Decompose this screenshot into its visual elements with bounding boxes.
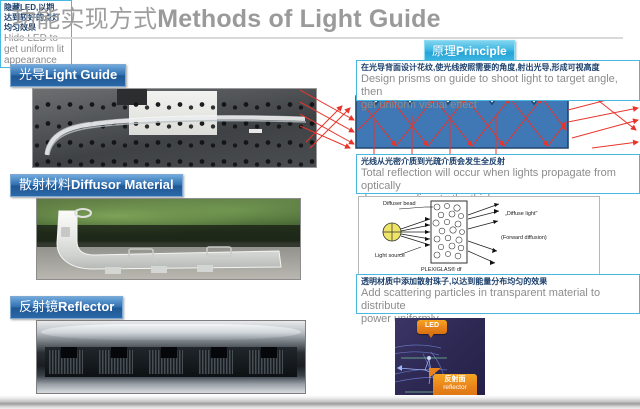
diffuse-light-label: „Diffuse light" [505,211,537,217]
led-strip [45,347,297,377]
principle-text-prism: 在光导背面设计花纹,使光线按照需要的角度,射出光导,形成可视高度 Design … [356,60,640,101]
callout-reflector-tail [429,368,441,378]
led-emitter [161,347,177,358]
slide-title-bar: 功能实现方式Methods of Light Guide [0,0,640,40]
section-label-diffusor-material[interactable]: 散射材料Diffusor Material [10,174,183,197]
section-label-reflector[interactable]: 反射镜Reflector [10,296,123,319]
section-label-diffusor-material-en: Diffusor Material [71,177,174,192]
plexiglas-label: PLEXIGLAS® df [421,267,461,273]
principle-prism-en-line2: get uniform visual effect [361,99,636,112]
callout-led-tail [427,332,435,338]
principle-scatter-cjk: 透明材质中添加散射珠子,以达到能量分布均匀的效果 [361,277,636,287]
principle-prism-en-line1: Design prisms on guide to shoot light to… [361,73,636,99]
section-label-light-guide-cjk: 光导 [19,67,45,82]
led-emitter [211,347,227,358]
page-title-en: Methods of Light Guide [157,5,441,33]
principle-scatter-en-line1: Add scattering particles in transparent … [361,287,636,313]
light-guide-rod [43,113,311,157]
principle-text-total-reflection: 光线从光密介质到光疏介质会发生全反射 Total reflection will… [356,154,640,194]
badge-principle-en: Principle [456,44,507,58]
led-emitter [261,347,277,358]
diagram-led-reflector: LED 反射面 reflector [395,318,485,401]
footer-bar [0,395,640,409]
principle-total-cjk: 光线从光密介质到光疏介质会发生全反射 [361,157,636,167]
led-emitter [61,347,77,358]
section-label-reflector-en: Reflector [58,299,114,314]
photo-light-guide-rod [32,88,317,168]
title-divider [8,37,623,39]
photo-diffusor-part [36,198,301,280]
slide-canvas: 功能实现方式Methods of Light Guide 原理Principle… [0,0,640,409]
led-emitter [111,347,127,358]
diffusor-part-shape [47,207,285,275]
section-label-light-guide-en: Light Guide [45,67,117,82]
principle-total-en-line1: Total reflection will occur when lights … [361,167,636,193]
callout-reflector-en: reflector [433,384,477,392]
section-label-reflector-cjk: 反射镜 [19,299,58,314]
page-title-cjk: 功能实现方式 [12,6,157,33]
forward-diffusion-label: (Forward diffusion) [501,235,547,241]
section-label-diffusor-material-cjk: 散射材料 [19,177,71,192]
page-title: 功能实现方式Methods of Light Guide [12,3,441,36]
photo-reflector-assembly [36,320,306,394]
diffusor-bead-label: Diffuser bead [383,201,416,207]
rod-marker [249,129,262,133]
section-label-light-guide[interactable]: 光导Light Guide [10,64,126,87]
principle-text-scattering: 透明材质中添加散射珠子,以达到能量分布均匀的效果 Add scattering … [356,274,640,314]
diagram-diffusor-scattering: Diffuser bead Light source „Diffuse ligh… [358,196,600,278]
badge-principle-cjk: 原理 [432,44,456,58]
callout-led-label: LED [417,322,447,330]
principle-hideled-en-line2: get uniform lit [4,44,69,55]
light-source-label: Light source [375,253,405,259]
principle-prism-cjk: 在光导背面设计花纹,使光线按照需要的角度,射出光导,形成可视高度 [361,63,636,73]
chrome-rim [41,324,301,340]
